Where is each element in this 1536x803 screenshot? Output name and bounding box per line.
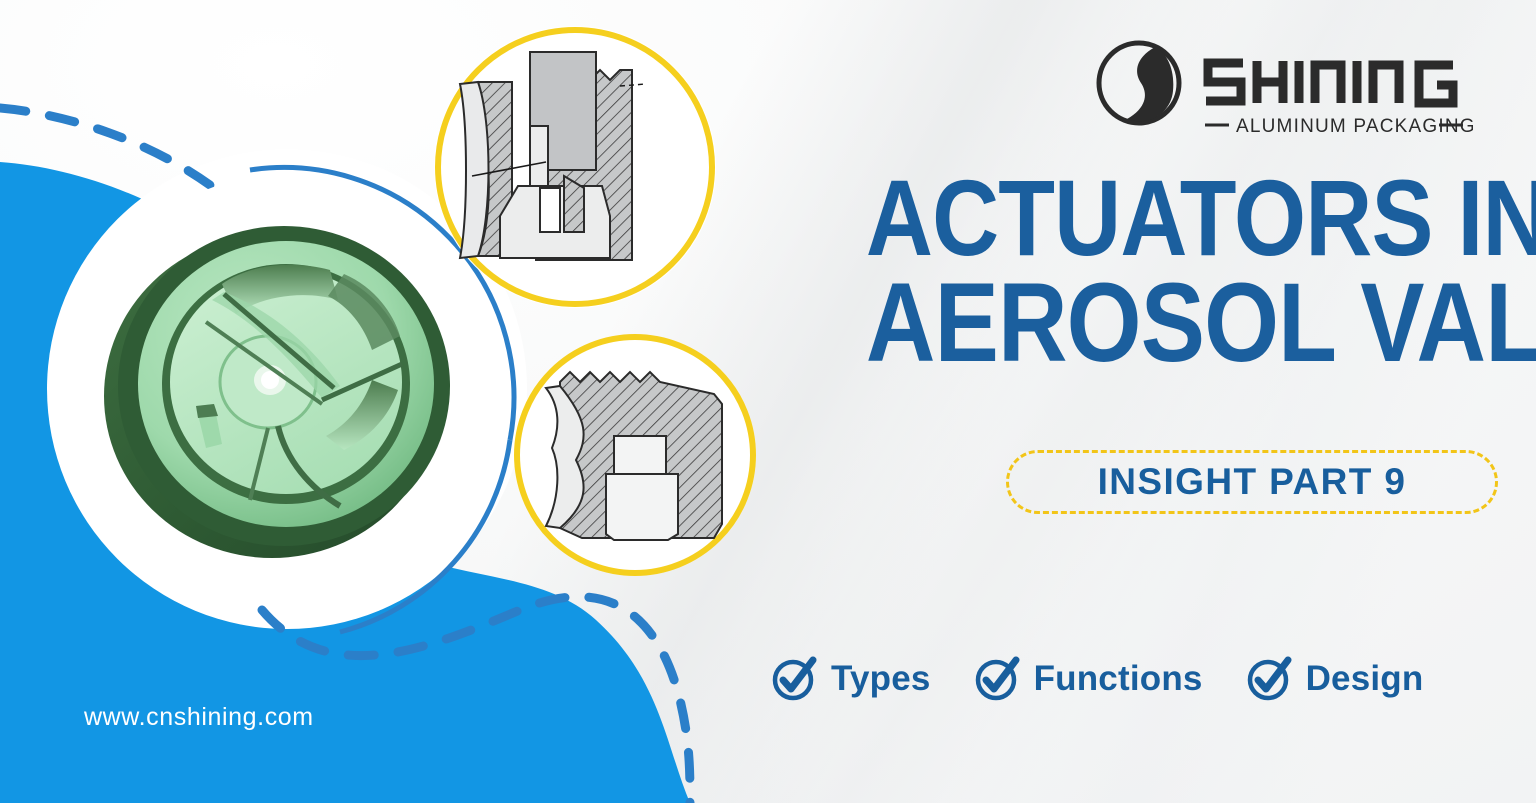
valve-cross-section-top <box>434 26 716 308</box>
logo-tagline: ALUMINUM PACKAGING <box>1205 116 1473 137</box>
feature-label: Design <box>1306 659 1424 699</box>
feature-list: Types Functions Design <box>770 648 1470 710</box>
detail-bubble-bottom <box>514 334 756 576</box>
check-circle-icon <box>973 655 1021 703</box>
promo-banner: ALUMINUM PACKAGING ACTUATORS IN AEROSOL … <box>0 0 1536 803</box>
feature-item: Types <box>770 655 931 703</box>
headline-line-2: AEROSOL VALVES <box>866 271 1504 374</box>
page-title: ACTUATORS IN AEROSOL VALVES <box>762 168 1504 374</box>
check-circle-icon <box>1245 655 1293 703</box>
website-url[interactable]: www.cnshining.com <box>84 703 314 732</box>
svg-text:ALUMINUM PACKAGING: ALUMINUM PACKAGING <box>1236 116 1473 137</box>
brand-logo: ALUMINUM PACKAGING <box>1093 37 1473 142</box>
feature-label: Functions <box>1034 659 1203 699</box>
insight-badge-label: INSIGHT PART 9 <box>1098 461 1407 503</box>
headline-line-1: ACTUATORS IN <box>866 168 1504 267</box>
detail-bubble-top <box>434 26 716 308</box>
feature-item: Design <box>1245 655 1424 703</box>
feature-item: Functions <box>973 655 1203 703</box>
crescent-circle-mark <box>1097 41 1179 125</box>
check-circle-icon <box>770 655 818 703</box>
valve-cross-section-bottom <box>514 334 756 576</box>
feature-label: Types <box>831 659 931 699</box>
insight-badge: INSIGHT PART 9 <box>1006 450 1498 514</box>
